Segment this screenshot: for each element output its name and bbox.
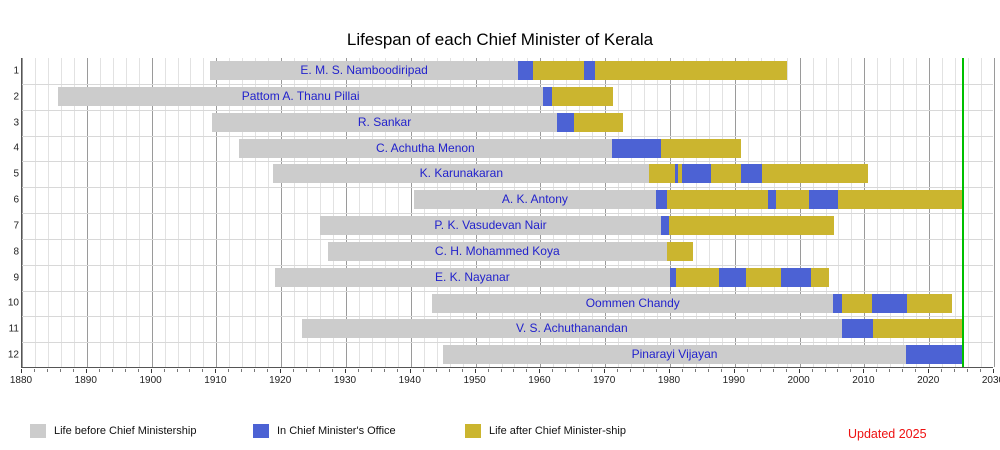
x-axis-tick-minor — [228, 369, 229, 372]
x-axis-tick-major — [345, 369, 346, 373]
bar-segment-office — [741, 164, 762, 183]
x-axis-tick-minor — [591, 369, 592, 372]
bar-segment-office — [719, 268, 746, 287]
x-axis-tick-major — [280, 369, 281, 373]
legend-swatch-before — [30, 424, 46, 438]
x-axis-tick-minor — [980, 369, 981, 372]
bar-segment-before — [239, 139, 612, 158]
lifespan-bar[interactable]: E. M. S. Namboodiripad — [210, 61, 787, 80]
x-axis-tick-minor — [526, 369, 527, 372]
x-axis-tick-minor — [786, 369, 787, 372]
bar-segment-before — [275, 268, 670, 287]
x-axis-tick-minor — [34, 369, 35, 372]
x-axis-tick-minor — [552, 369, 553, 372]
legend-swatch-office — [253, 424, 269, 438]
x-axis-tick-major — [799, 369, 800, 373]
x-axis-tick-major — [215, 369, 216, 373]
x-axis-tick-minor — [656, 369, 657, 372]
x-axis-tick-minor — [902, 369, 903, 372]
x-axis-tick-minor — [812, 369, 813, 372]
lifespan-bar[interactable]: Pinarayi Vijayan — [443, 345, 961, 364]
chart-container: Lifespan of each Chief Minister of Keral… — [0, 0, 1000, 450]
lifespan-bar[interactable]: A. K. Antony — [414, 190, 962, 209]
lifespan-bar[interactable]: R. Sankar — [212, 113, 623, 132]
timeline-row[interactable]: E. M. S. Namboodiripad — [22, 58, 993, 84]
x-axis-tick-minor — [773, 369, 774, 372]
x-axis-tick-label: 2030 — [982, 375, 1000, 386]
bar-segment-after — [873, 319, 961, 338]
x-axis-tick-minor — [941, 369, 942, 372]
bar-segment-office — [833, 294, 842, 313]
x-axis-tick-minor — [384, 369, 385, 372]
x-axis-tick-major — [734, 369, 735, 373]
bar-segment-after — [676, 268, 719, 287]
timeline-row[interactable]: V. S. Achuthanandan — [22, 316, 993, 342]
bar-segment-after — [711, 164, 741, 183]
lifespan-bar[interactable]: Oommen Chandy — [432, 294, 952, 313]
x-axis-tick-label: 1880 — [10, 375, 32, 386]
x-axis-tick-major — [863, 369, 864, 373]
x-axis-tick-minor — [747, 369, 748, 372]
x-axis-tick-minor — [967, 369, 968, 372]
bar-segment-after — [533, 61, 584, 80]
bar-segment-before — [328, 242, 667, 261]
x-axis-tick-minor — [513, 369, 514, 372]
x-axis-tick-major — [410, 369, 411, 373]
bar-segment-after — [669, 216, 834, 235]
x-axis-tick-minor — [358, 369, 359, 372]
timeline-row[interactable]: C. H. Mohammed Koya — [22, 239, 993, 265]
bar-segment-before — [414, 190, 656, 209]
legend-item-before[interactable]: Life before Chief Ministership — [30, 424, 196, 438]
current-year-marker — [962, 58, 964, 367]
timeline-row[interactable]: Pinarayi Vijayan — [22, 342, 993, 368]
x-axis-tick-minor — [850, 369, 851, 372]
bar-segment-before — [443, 345, 906, 364]
lifespan-bar[interactable]: P. K. Vasudevan Nair — [320, 216, 834, 235]
timeline-row[interactable]: A. K. Antony — [22, 187, 993, 213]
bar-segment-after — [907, 294, 952, 313]
x-axis-tick-minor — [630, 369, 631, 372]
chart-legend: Updated 2025 Life before Chief Ministers… — [0, 420, 1000, 450]
x-axis-tick-major — [539, 369, 540, 373]
x-axis-tick-label: 1930 — [334, 375, 356, 386]
x-axis-tick-label: 2000 — [787, 375, 809, 386]
y-axis-tick-label: 11 — [1, 324, 19, 335]
x-axis-tick-minor — [436, 369, 437, 372]
lifespan-bar[interactable]: V. S. Achuthanandan — [302, 319, 962, 338]
x-axis-tick-minor — [825, 369, 826, 372]
bar-segment-office — [670, 268, 676, 287]
x-axis-tick-minor — [189, 369, 190, 372]
bar-segment-office — [656, 190, 668, 209]
bar-segment-before — [58, 87, 543, 106]
bar-segment-office — [842, 319, 874, 338]
y-axis-tick-label: 3 — [1, 117, 19, 128]
gridline-major — [994, 58, 995, 367]
timeline-row[interactable]: P. K. Vasudevan Nair — [22, 213, 993, 239]
y-axis-tick-label: 12 — [1, 350, 19, 361]
bar-segment-office — [906, 345, 962, 364]
bar-segment-after — [667, 190, 768, 209]
bar-segment-office — [584, 61, 596, 80]
x-axis-tick-minor — [177, 369, 178, 372]
x-axis-tick-minor — [578, 369, 579, 372]
legend-label: In Chief Minister's Office — [277, 425, 396, 437]
chart-title: Lifespan of each Chief Minister of Keral… — [0, 30, 1000, 50]
x-axis-tick-label: 1920 — [269, 375, 291, 386]
x-axis-tick-label: 1990 — [723, 375, 745, 386]
bar-segment-office — [768, 190, 775, 209]
x-axis-tick-minor — [721, 369, 722, 372]
bar-segment-after — [661, 139, 741, 158]
x-axis-tick-minor — [371, 369, 372, 372]
x-axis-tick-minor — [306, 369, 307, 372]
x-axis-tick-label: 1960 — [528, 375, 550, 386]
x-axis-tick-major — [928, 369, 929, 373]
x-axis-tick-minor — [267, 369, 268, 372]
x-axis-tick-major — [86, 369, 87, 373]
timeline-row[interactable]: Pattom A. Thanu Pillai — [22, 84, 993, 110]
x-axis-tick-label: 1940 — [399, 375, 421, 386]
x-axis-tick-minor — [99, 369, 100, 372]
bar-segment-before — [210, 61, 518, 80]
timeline-row[interactable]: R. Sankar — [22, 110, 993, 136]
bar-segment-before — [302, 319, 842, 338]
x-axis-tick-minor — [889, 369, 890, 372]
bar-segment-office — [809, 190, 838, 209]
bar-segment-after — [552, 87, 613, 106]
x-axis-tick-minor — [565, 369, 566, 372]
x-axis-tick-minor — [876, 369, 877, 372]
bar-segment-after — [776, 190, 809, 209]
y-axis-tick-label: 9 — [1, 272, 19, 283]
x-axis-tick-minor — [397, 369, 398, 372]
x-axis-tick-label: 1980 — [658, 375, 680, 386]
plot-area: E. M. S. NamboodiripadPattom A. Thanu Pi… — [21, 58, 993, 368]
bar-segment-before — [273, 164, 649, 183]
x-axis-tick-label: 2020 — [917, 375, 939, 386]
y-axis-tick-label: 4 — [1, 143, 19, 154]
x-axis-tick-minor — [682, 369, 683, 372]
lifespan-bar[interactable]: E. K. Nayanar — [275, 268, 829, 287]
x-axis-tick-minor — [125, 369, 126, 372]
bar-segment-after — [811, 268, 828, 287]
x-axis-tick-label: 1950 — [463, 375, 485, 386]
x-axis-tick-minor — [241, 369, 242, 372]
y-axis-tick-label: 5 — [1, 169, 19, 180]
bar-segment-after — [595, 61, 787, 80]
bar-segment-after — [762, 164, 868, 183]
x-axis-tick-major — [993, 369, 994, 373]
timeline-row[interactable]: K. Karunakaran — [22, 161, 993, 187]
x-axis-tick-major — [604, 369, 605, 373]
x-axis-tick-minor — [915, 369, 916, 372]
y-axis-tick-label: 10 — [1, 298, 19, 309]
x-axis-tick-label: 1900 — [139, 375, 161, 386]
bar-segment-after — [667, 242, 693, 261]
x-axis-tick-minor — [202, 369, 203, 372]
bar-segment-before — [320, 216, 661, 235]
x-axis-tick-label: 1890 — [75, 375, 97, 386]
bar-segment-before — [432, 294, 833, 313]
y-axis-tick-label: 8 — [1, 246, 19, 257]
x-axis-tick-minor — [254, 369, 255, 372]
lifespan-bar[interactable]: C. H. Mohammed Koya — [328, 242, 693, 261]
timeline-row[interactable]: E. K. Nayanar — [22, 265, 993, 291]
bar-segment-office — [518, 61, 532, 80]
x-axis-tick-label: 1910 — [204, 375, 226, 386]
legend-item-after[interactable]: Life after Chief Minister-ship — [465, 424, 626, 438]
x-axis-tick-major — [21, 369, 22, 373]
x-axis-tick-minor — [708, 369, 709, 372]
x-axis-tick-minor — [954, 369, 955, 372]
x-axis-tick-label: 1970 — [593, 375, 615, 386]
bar-segment-after — [838, 190, 962, 209]
x-axis-tick-minor — [293, 369, 294, 372]
x-axis-tick-minor — [73, 369, 74, 372]
y-axis-tick-label: 6 — [1, 195, 19, 206]
bar-segment-after — [574, 113, 623, 132]
x-axis-tick-minor — [501, 369, 502, 372]
x-axis-tick-minor — [643, 369, 644, 372]
bar-segment-after — [746, 268, 781, 287]
x-axis-tick-minor — [837, 369, 838, 372]
x-axis-tick-minor — [332, 369, 333, 372]
lifespan-bar[interactable]: Pattom A. Thanu Pillai — [58, 87, 613, 106]
x-axis-tick-minor — [60, 369, 61, 372]
x-axis-tick-label: 2010 — [852, 375, 874, 386]
bar-segment-office — [557, 113, 574, 132]
x-axis-tick-minor — [164, 369, 165, 372]
lifespan-bar[interactable]: C. Achutha Menon — [239, 139, 741, 158]
bar-segment-before — [212, 113, 557, 132]
timeline-row[interactable]: C. Achutha Menon — [22, 136, 993, 162]
bar-segment-after — [649, 164, 674, 183]
bar-segment-office — [661, 216, 669, 235]
bar-segment-office — [682, 164, 711, 183]
timeline-row[interactable]: Oommen Chandy — [22, 291, 993, 317]
x-axis-tick-major — [151, 369, 152, 373]
x-axis-tick-minor — [760, 369, 761, 372]
x-axis-tick-minor — [449, 369, 450, 372]
y-axis: 123456789101112 — [0, 58, 19, 370]
x-axis-tick-minor — [47, 369, 48, 372]
y-axis-tick-label: 7 — [1, 220, 19, 231]
x-axis-tick-minor — [617, 369, 618, 372]
bar-segment-office — [872, 294, 906, 313]
y-axis-tick-label: 2 — [1, 91, 19, 102]
x-axis: 1880189019001910192019301940195019601970… — [0, 369, 1000, 393]
x-axis-tick-minor — [423, 369, 424, 372]
legend-label: Life before Chief Ministership — [54, 425, 196, 437]
x-axis-tick-minor — [695, 369, 696, 372]
updated-note: Updated 2025 — [848, 427, 927, 441]
x-axis-tick-minor — [462, 369, 463, 372]
x-axis-tick-minor — [112, 369, 113, 372]
bar-segment-office — [781, 268, 811, 287]
bar-segment-office — [612, 139, 661, 158]
x-axis-tick-major — [475, 369, 476, 373]
y-axis-tick-label: 1 — [1, 65, 19, 76]
bar-segment-after — [842, 294, 872, 313]
legend-swatch-after — [465, 424, 481, 438]
legend-item-office[interactable]: In Chief Minister's Office — [253, 424, 396, 438]
x-axis-tick-major — [669, 369, 670, 373]
x-axis-tick-minor — [138, 369, 139, 372]
lifespan-bar[interactable]: K. Karunakaran — [273, 164, 867, 183]
x-axis-tick-minor — [319, 369, 320, 372]
x-axis-tick-minor — [488, 369, 489, 372]
legend-label: Life after Chief Minister-ship — [489, 425, 626, 437]
bar-segment-office — [543, 87, 552, 106]
